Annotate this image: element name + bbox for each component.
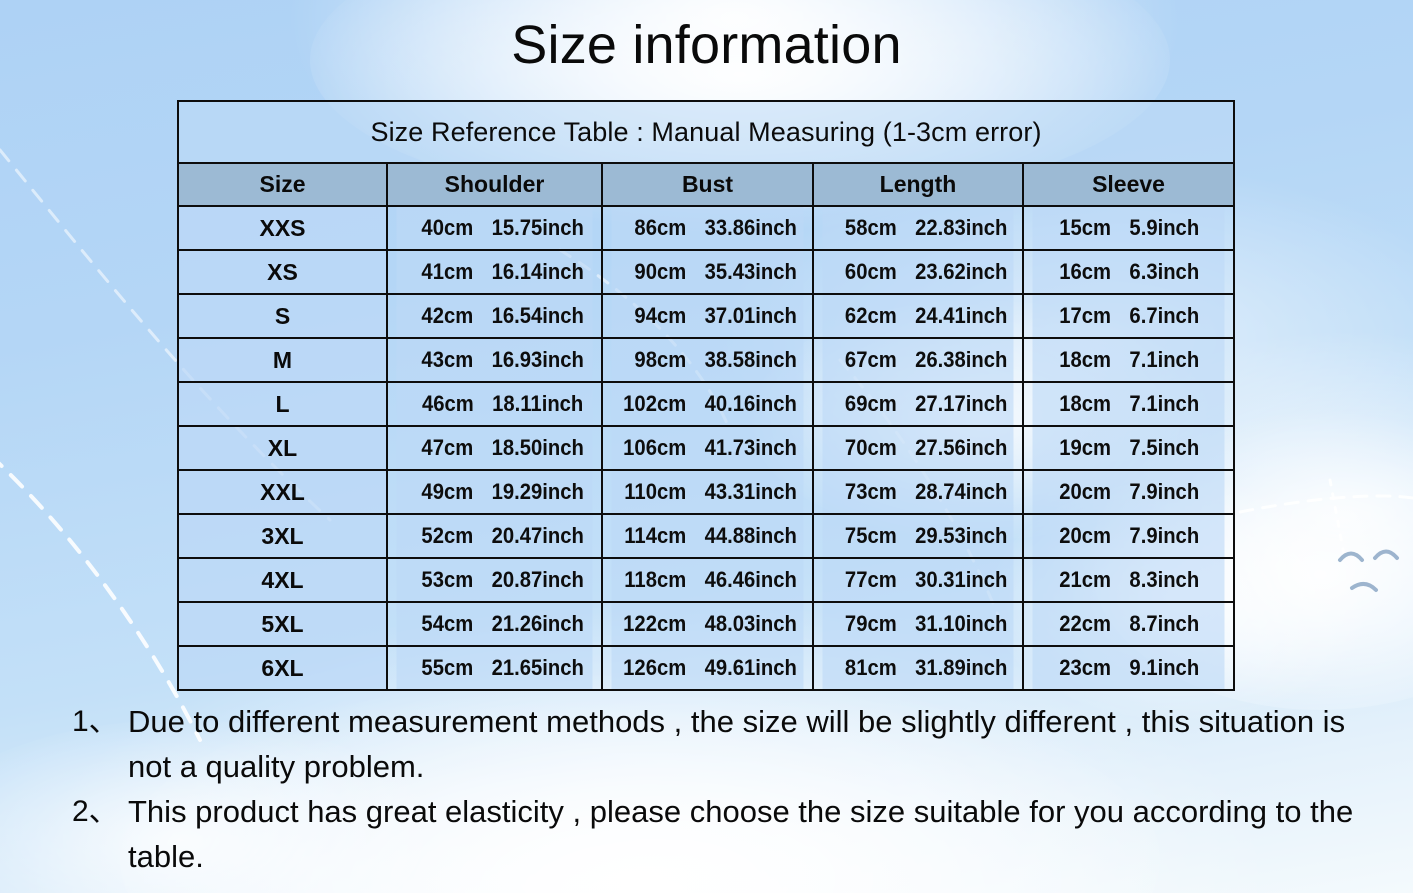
cell-length: 75cm29.53inch: [821, 514, 1014, 558]
value-bust-cm: 90cm: [618, 259, 686, 285]
value-shoulder-inch: 18.11inch: [492, 391, 583, 417]
cell-bust: 94cm37.01inch: [610, 294, 804, 338]
table-row: M43cm16.93inch98cm38.58inch67cm26.38inch…: [178, 338, 1234, 382]
cell-length: 58cm22.83inch: [821, 206, 1014, 250]
value-shoulder-inch: 16.93inch: [492, 347, 584, 373]
table-row: L46cm18.11inch102cm40.16inch69cm27.17inc…: [178, 382, 1234, 426]
value-bust-cm: 126cm: [618, 655, 686, 681]
cell-sleeve: 18cm7.1inch: [1031, 382, 1225, 426]
value-length-inch: 27.56inch: [915, 435, 1007, 461]
value-length-inch: 22.83inch: [915, 215, 1007, 241]
value-length-inch: 31.89inch: [915, 655, 1007, 681]
value-shoulder-inch: 16.14inch: [492, 259, 584, 285]
column-header-shoulder: Shoulder: [387, 163, 602, 206]
value-bust-inch: 38.58inch: [705, 347, 797, 373]
value-shoulder-inch: 16.54inch: [492, 303, 584, 329]
note-text: This product has great elasticity , plea…: [128, 790, 1372, 880]
cell-sleeve: 17cm6.7inch: [1031, 294, 1225, 338]
value-length-cm: 79cm: [829, 611, 897, 637]
table-row: 3XL52cm20.47inch114cm44.88inch75cm29.53i…: [178, 514, 1234, 558]
note-marker: 1、: [72, 700, 128, 744]
cell-length: 60cm23.62inch: [821, 250, 1014, 294]
size-chart-container: Size Reference Table : Manual Measuring …: [177, 100, 1235, 691]
table-caption: Size Reference Table : Manual Measuring …: [178, 101, 1234, 163]
value-shoulder-cm: 41cm: [405, 259, 473, 285]
value-shoulder-inch: 20.87inch: [492, 567, 584, 593]
cell-sleeve: 16cm6.3inch: [1031, 250, 1225, 294]
value-bust-cm: 110cm: [618, 479, 686, 505]
value-length-inch: 23.62inch: [915, 259, 1007, 285]
value-length-cm: 70cm: [829, 435, 897, 461]
value-sleeve-inch: 9.1inch: [1129, 655, 1214, 681]
value-bust-inch: 37.01inch: [705, 303, 797, 329]
value-length-inch: 26.38inch: [915, 347, 1007, 373]
value-length-inch: 31.10inch: [915, 611, 1007, 637]
value-sleeve-inch: 8.3inch: [1129, 567, 1214, 593]
cell-length: 77cm30.31inch: [821, 558, 1014, 602]
value-sleeve-inch: 7.1inch: [1129, 391, 1214, 417]
value-length-inch: 28.74inch: [915, 479, 1007, 505]
value-shoulder-inch: 21.65inch: [492, 655, 584, 681]
value-sleeve-inch: 5.9inch: [1129, 215, 1214, 241]
column-header-length: Length: [813, 163, 1023, 206]
value-shoulder-cm: 52cm: [405, 523, 473, 549]
value-sleeve-cm: 21cm: [1043, 567, 1111, 593]
cell-length: 70cm27.56inch: [821, 426, 1014, 470]
value-sleeve-inch: 6.7inch: [1129, 303, 1214, 329]
cell-bust: 110cm43.31inch: [610, 470, 804, 514]
value-bust-inch: 49.61inch: [705, 655, 797, 681]
cell-bust: 98cm38.58inch: [610, 338, 804, 382]
table-header-row: Size Shoulder Bust Length Sleeve: [178, 163, 1234, 206]
cell-shoulder: 46cm18.11inch: [396, 382, 594, 426]
value-bust-cm: 114cm: [618, 523, 686, 549]
value-shoulder-inch: 18.50inch: [492, 435, 584, 461]
value-bust-cm: 94cm: [618, 303, 686, 329]
table-row: XS41cm16.14inch90cm35.43inch60cm23.62inc…: [178, 250, 1234, 294]
cell-size: L: [178, 382, 387, 426]
cell-bust: 126cm49.61inch: [610, 646, 804, 690]
value-shoulder-inch: 20.47inch: [492, 523, 584, 549]
cell-size: XXS: [178, 206, 387, 250]
cell-bust: 114cm44.88inch: [610, 514, 804, 558]
value-bust-cm: 86cm: [618, 215, 686, 241]
cell-sleeve: 23cm9.1inch: [1031, 646, 1225, 690]
cell-length: 62cm24.41inch: [821, 294, 1014, 338]
value-sleeve-cm: 23cm: [1043, 655, 1111, 681]
value-length-cm: 77cm: [829, 567, 897, 593]
value-length-cm: 81cm: [829, 655, 897, 681]
value-length-cm: 75cm: [829, 523, 897, 549]
value-length-cm: 73cm: [829, 479, 897, 505]
value-bust-cm: 98cm: [618, 347, 686, 373]
value-shoulder-cm: 43cm: [405, 347, 473, 373]
value-sleeve-inch: 7.1inch: [1129, 347, 1214, 373]
table-row: XXL49cm19.29inch110cm43.31inch73cm28.74i…: [178, 470, 1234, 514]
cell-shoulder: 40cm15.75inch: [396, 206, 594, 250]
cell-length: 73cm28.74inch: [821, 470, 1014, 514]
value-bust-inch: 40.16inch: [705, 391, 797, 417]
note-text: Due to different measurement methods , t…: [128, 700, 1372, 790]
cell-shoulder: 42cm16.54inch: [396, 294, 594, 338]
cell-shoulder: 55cm21.65inch: [396, 646, 594, 690]
value-length-inch: 29.53inch: [915, 523, 1007, 549]
cell-length: 79cm31.10inch: [821, 602, 1014, 646]
value-length-inch: 30.31inch: [915, 567, 1007, 593]
cell-size: 5XL: [178, 602, 387, 646]
cell-sleeve: 21cm8.3inch: [1031, 558, 1225, 602]
value-bust-inch: 48.03inch: [705, 611, 797, 637]
value-bust-inch: 43.31inch: [705, 479, 797, 505]
value-bust-cm: 106cm: [618, 435, 686, 461]
cell-size: 3XL: [178, 514, 387, 558]
cell-sleeve: 20cm7.9inch: [1031, 470, 1225, 514]
cell-size: S: [178, 294, 387, 338]
cell-length: 81cm31.89inch: [821, 646, 1014, 690]
notes-list: 1、Due to different measurement methods ,…: [72, 700, 1372, 880]
cell-shoulder: 41cm16.14inch: [396, 250, 594, 294]
value-length-inch: 27.17inch: [915, 391, 1007, 417]
table-row: XL47cm18.50inch106cm41.73inch70cm27.56in…: [178, 426, 1234, 470]
value-shoulder-cm: 42cm: [405, 303, 473, 329]
cell-bust: 122cm48.03inch: [610, 602, 804, 646]
value-bust-inch: 33.86inch: [705, 215, 797, 241]
column-header-sleeve: Sleeve: [1023, 163, 1234, 206]
value-shoulder-cm: 53cm: [405, 567, 473, 593]
cell-bust: 118cm46.46inch: [610, 558, 804, 602]
value-shoulder-cm: 46cm: [406, 391, 474, 417]
value-shoulder-cm: 47cm: [405, 435, 473, 461]
value-length-cm: 69cm: [829, 391, 897, 417]
cell-bust: 102cm40.16inch: [610, 382, 804, 426]
value-bust-inch: 44.88inch: [705, 523, 797, 549]
cell-sleeve: 19cm7.5inch: [1031, 426, 1225, 470]
column-header-size: Size: [178, 163, 387, 206]
cell-size: 6XL: [178, 646, 387, 690]
value-sleeve-cm: 15cm: [1043, 215, 1111, 241]
table-caption-row: Size Reference Table : Manual Measuring …: [178, 101, 1234, 163]
value-shoulder-inch: 15.75inch: [492, 215, 584, 241]
cell-shoulder: 53cm20.87inch: [396, 558, 594, 602]
value-length-inch: 24.41inch: [915, 303, 1007, 329]
table-row: 5XL54cm21.26inch122cm48.03inch79cm31.10i…: [178, 602, 1234, 646]
cell-shoulder: 54cm21.26inch: [396, 602, 594, 646]
cell-bust: 86cm33.86inch: [610, 206, 804, 250]
value-length-cm: 62cm: [829, 303, 897, 329]
cell-shoulder: 43cm16.93inch: [396, 338, 594, 382]
size-table-body: XXS40cm15.75inch86cm33.86inch58cm22.83in…: [178, 206, 1234, 690]
table-row: S42cm16.54inch94cm37.01inch62cm24.41inch…: [178, 294, 1234, 338]
value-sleeve-cm: 19cm: [1043, 435, 1111, 461]
value-sleeve-inch: 6.3inch: [1129, 259, 1214, 285]
value-sleeve-inch: 7.5inch: [1129, 435, 1214, 461]
note-marker: 2、: [72, 790, 128, 834]
value-shoulder-inch: 19.29inch: [492, 479, 584, 505]
value-sleeve-cm: 22cm: [1043, 611, 1111, 637]
value-bust-inch: 35.43inch: [705, 259, 797, 285]
value-bust-inch: 46.46inch: [705, 567, 797, 593]
cell-shoulder: 49cm19.29inch: [396, 470, 594, 514]
cell-length: 67cm26.38inch: [821, 338, 1014, 382]
cell-sleeve: 20cm7.9inch: [1031, 514, 1225, 558]
cell-bust: 106cm41.73inch: [610, 426, 804, 470]
cell-sleeve: 18cm7.1inch: [1031, 338, 1225, 382]
value-sleeve-cm: 17cm: [1043, 303, 1111, 329]
value-length-cm: 58cm: [829, 215, 897, 241]
value-bust-cm: 102cm: [618, 391, 686, 417]
table-row: XXS40cm15.75inch86cm33.86inch58cm22.83in…: [178, 206, 1234, 250]
note-item: 1、Due to different measurement methods ,…: [72, 700, 1372, 790]
cell-size: XS: [178, 250, 387, 294]
cell-size: XXL: [178, 470, 387, 514]
value-sleeve-inch: 7.9inch: [1129, 523, 1214, 549]
value-sleeve-cm: 20cm: [1043, 479, 1111, 505]
value-sleeve-cm: 18cm: [1043, 391, 1111, 417]
cell-length: 69cm27.17inch: [821, 382, 1014, 426]
value-sleeve-cm: 18cm: [1043, 347, 1111, 373]
value-bust-cm: 118cm: [618, 567, 686, 593]
value-sleeve-inch: 7.9inch: [1129, 479, 1214, 505]
cell-size: M: [178, 338, 387, 382]
note-item: 2、This product has great elasticity , pl…: [72, 790, 1372, 880]
size-reference-table: Size Reference Table : Manual Measuring …: [177, 100, 1235, 691]
cell-shoulder: 52cm20.47inch: [396, 514, 594, 558]
value-shoulder-cm: 49cm: [405, 479, 473, 505]
value-shoulder-cm: 55cm: [405, 655, 473, 681]
cell-size: XL: [178, 426, 387, 470]
cell-sleeve: 15cm5.9inch: [1031, 206, 1225, 250]
cell-shoulder: 47cm18.50inch: [396, 426, 594, 470]
value-shoulder-cm: 54cm: [405, 611, 473, 637]
value-sleeve-cm: 16cm: [1043, 259, 1111, 285]
value-bust-cm: 122cm: [618, 611, 686, 637]
value-length-cm: 67cm: [829, 347, 897, 373]
column-header-bust: Bust: [602, 163, 813, 206]
table-row: 4XL53cm20.87inch118cm46.46inch77cm30.31i…: [178, 558, 1234, 602]
cell-bust: 90cm35.43inch: [610, 250, 804, 294]
value-sleeve-inch: 8.7inch: [1129, 611, 1214, 637]
value-shoulder-inch: 21.26inch: [492, 611, 584, 637]
value-length-cm: 60cm: [829, 259, 897, 285]
cell-size: 4XL: [178, 558, 387, 602]
value-bust-inch: 41.73inch: [705, 435, 797, 461]
page-title: Size information: [0, 18, 1413, 72]
value-shoulder-cm: 40cm: [405, 215, 473, 241]
value-sleeve-cm: 20cm: [1043, 523, 1111, 549]
table-row: 6XL55cm21.65inch126cm49.61inch81cm31.89i…: [178, 646, 1234, 690]
cell-sleeve: 22cm8.7inch: [1031, 602, 1225, 646]
